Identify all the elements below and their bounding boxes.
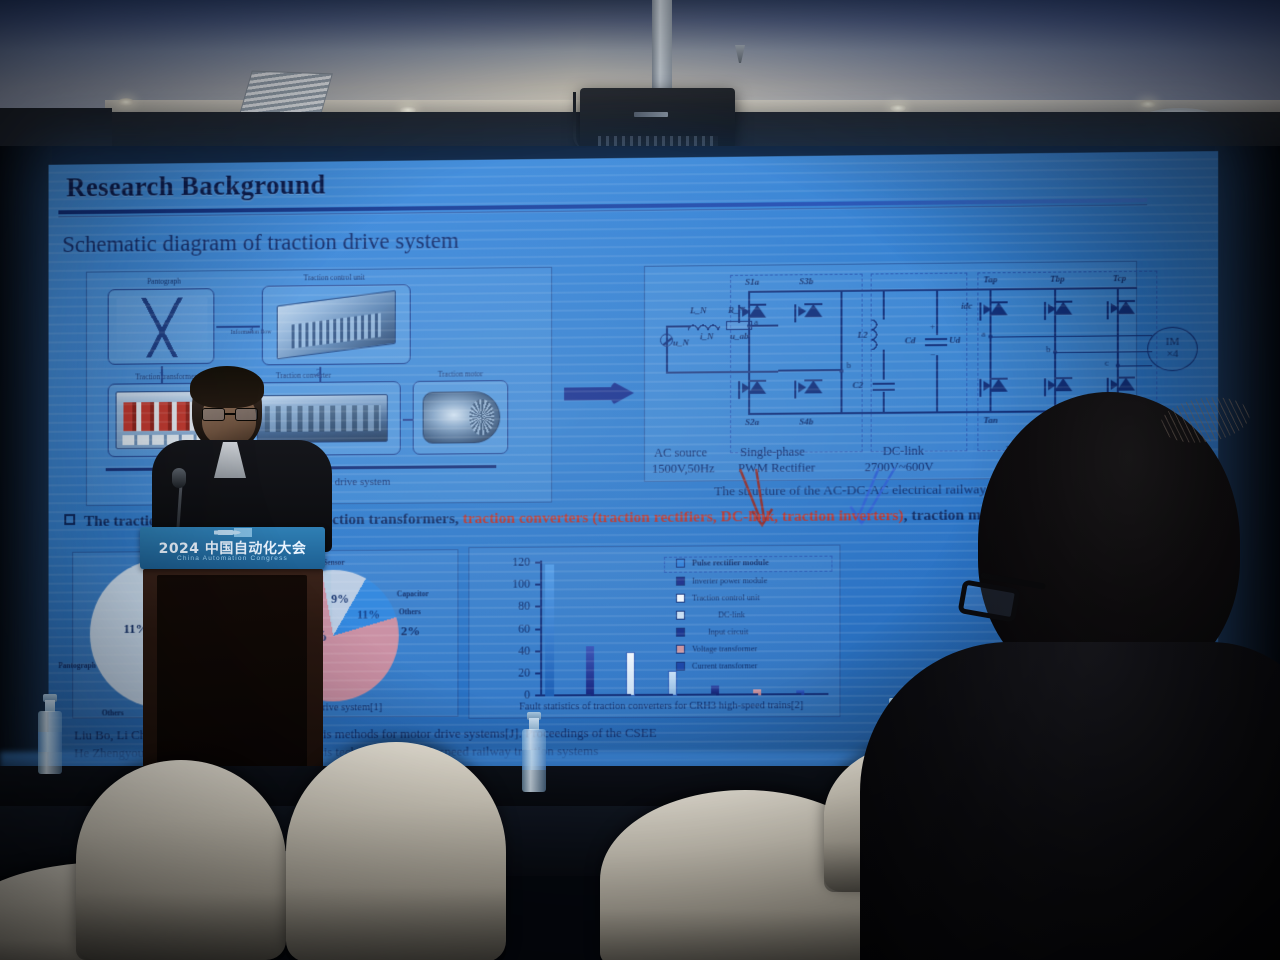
rect-leg-b: [840, 290, 842, 414]
igbt-tcp: [1107, 297, 1137, 323]
legend-item-voltage-transformer: Voltage transformer: [676, 644, 757, 653]
wire: [883, 289, 885, 319]
y-tick-label-120: 120: [500, 555, 530, 570]
phase-wire-c: [1118, 365, 1152, 367]
projector-cable: [573, 92, 587, 150]
wire: [936, 289, 938, 335]
legend-item-current-transformer: Current transformer: [676, 661, 757, 670]
polarity-plus: +: [930, 321, 935, 331]
switch-label-s3b: S3b: [799, 276, 813, 286]
bar-inverter-power-module: [586, 646, 594, 696]
igbt-s3b: [794, 300, 824, 326]
legend-label: Input circuit: [708, 627, 748, 636]
pie-value-9: 9%: [331, 592, 349, 607]
block-label-traction-control-unit: Traction control unit: [270, 272, 399, 282]
transition-arrow-icon: [564, 380, 634, 407]
pie-label-sensor: Sensor: [323, 558, 345, 567]
legend-swatch: [676, 628, 685, 637]
x-tick: [586, 694, 591, 696]
pie-left-label-pantograph: Pantograph: [58, 661, 95, 670]
switch-label-s1a: S1a: [745, 277, 759, 287]
igbt-s1a: [738, 301, 768, 327]
chair: [76, 760, 286, 960]
y-tick: [535, 562, 540, 564]
presentation-photo: Research Background Schematic diagram of…: [0, 0, 1280, 960]
presenter-glasses: [202, 408, 258, 421]
legend-item-traction-control-unit: Traction control unit: [676, 593, 760, 603]
legend-item-inverter-power-module: Inverter power module: [676, 576, 767, 586]
pie-label-others: Others: [399, 607, 421, 616]
legend-label: Inverter power module: [692, 576, 767, 585]
y-tick: [535, 672, 540, 674]
source-voltage-label: u_N: [673, 337, 689, 347]
x-tick: [796, 693, 801, 695]
bar-pulse-rectifier-module: [545, 564, 554, 696]
block-traction-motor: [413, 380, 509, 455]
bullet-highlight: traction converters (traction rectifiers…: [463, 507, 904, 527]
stage-label-ac-source-1: AC source: [654, 445, 707, 460]
legend-swatch: [676, 662, 685, 671]
y-tick-label-40: 40: [500, 644, 530, 659]
igbt-s4b: [794, 376, 824, 402]
block-label-traction-motor: Traction motor: [411, 369, 511, 379]
x-tick: [668, 694, 673, 696]
switch-label-s2a: S2a: [745, 417, 759, 427]
downlight: [1140, 100, 1156, 108]
attendee-shoulders: [860, 642, 1280, 960]
junction-dot: [747, 324, 751, 328]
microphone-icon: [172, 468, 186, 488]
information-flow-label: Information flow: [216, 329, 285, 336]
switch-label-tap: Tap: [983, 274, 997, 284]
wire: [666, 342, 668, 374]
congress-logo-icon: [214, 528, 252, 537]
legend-swatch: [676, 611, 685, 620]
pie-value-11: 11%: [357, 608, 380, 623]
pie-value-2: 2%: [401, 623, 420, 639]
y-tick: [535, 629, 540, 631]
y-tick-label-100: 100: [500, 577, 530, 592]
water-bottle: [38, 700, 62, 774]
energy-flow-line-right: [325, 465, 496, 469]
water-bottle: [522, 718, 546, 792]
switch-label-tcp: Tcp: [1113, 273, 1126, 283]
legend-swatch: [676, 559, 685, 568]
downlight: [890, 104, 906, 112]
bar-traction-control-unit: [626, 652, 635, 696]
legend-item-input-circuit: Input circuit: [676, 627, 748, 636]
legend-label: DC-link: [718, 610, 745, 619]
junction-dot: [988, 335, 992, 339]
dc-inductor-l2: [872, 320, 881, 350]
motor-count-label: ×4: [1167, 349, 1179, 361]
pie-left-label-others: Others: [102, 708, 124, 717]
y-tick-label-60: 60: [500, 622, 530, 637]
y-tick-label-20: 20: [500, 666, 530, 681]
stage-label-rectifier-1: Single-phase: [740, 445, 805, 461]
legend-label: Pulse rectifier module: [692, 558, 769, 568]
x-tick: [711, 694, 716, 696]
legend-label: Voltage transformer: [692, 644, 757, 653]
bar-chart: 120 100 80 60 40 20 0: [468, 545, 840, 719]
attendee-glasses: [960, 574, 1046, 618]
traction-motor-icon: [423, 391, 501, 444]
y-axis: [540, 561, 542, 697]
y-tick-label-0: 0: [500, 687, 530, 702]
wire: [666, 326, 668, 342]
chair: [286, 742, 506, 960]
legend-label: Traction control unit: [692, 593, 760, 602]
junction-dot: [1053, 350, 1057, 354]
foreground-attendee: [860, 392, 1280, 960]
presenter-hair: [190, 366, 264, 408]
wire: [666, 325, 690, 327]
x-tick: [626, 694, 631, 696]
x-axis: [540, 693, 828, 697]
node-label-a: a: [754, 317, 758, 327]
downlight: [118, 98, 134, 106]
y-tick-label-80: 80: [500, 599, 530, 614]
dc-capacitor-cd: [925, 335, 947, 349]
dc-cap-label: Cd: [905, 335, 916, 345]
block-pantograph: [108, 288, 215, 365]
podium-sign: 2024 中国自动化大会 China Automation Congress: [140, 527, 325, 569]
pie-label-capacitor: Capacitor: [397, 589, 429, 598]
dc-cap2-label: C2: [853, 380, 864, 390]
junction-dot: [1116, 364, 1120, 368]
phase-node-b: b: [1046, 344, 1051, 354]
inductor-label: L_N: [690, 305, 707, 315]
bullet-square-icon: [64, 514, 75, 525]
block-traction-control-unit: [262, 284, 411, 365]
phase-node-c: c: [1105, 358, 1109, 368]
switch-label-s4b: S4b: [799, 416, 813, 426]
connector-conv-motor: [403, 419, 413, 421]
presenter: [152, 368, 332, 548]
block-label-pantograph: Pantograph: [120, 276, 209, 286]
slide-subtitle: Schematic diagram of traction drive syst…: [62, 228, 459, 258]
podium-sign-english: China Automation Congress: [140, 555, 325, 562]
induction-motor-symbol: IM ×4: [1147, 327, 1198, 372]
pantograph-icon: [117, 297, 208, 358]
stage-label-ac-source-2: 1500V,50Hz: [652, 461, 715, 476]
legend-swatch: [676, 645, 685, 654]
bar-chart-legend: Pulse rectifier module Inverter power mo…: [664, 557, 834, 668]
y-tick: [535, 606, 540, 608]
switch-label-tbp: Tbp: [1050, 274, 1065, 284]
traction-control-unit-icon: [277, 290, 396, 360]
legend-item-pulse-rectifier-module: Pulse rectifier module: [676, 558, 769, 568]
igbt-tbp: [1044, 298, 1074, 324]
legend-label: Current transformer: [692, 661, 757, 670]
x-tick: [753, 693, 758, 695]
dc-current-label: idc: [961, 301, 972, 311]
node-label-b: b: [847, 360, 852, 370]
wire: [883, 350, 885, 380]
legend-swatch: [676, 594, 685, 603]
dc-inductor-label: L2: [858, 330, 868, 340]
slide-title: Research Background: [66, 170, 325, 204]
y-tick: [535, 694, 540, 696]
bar-dc-link: [668, 671, 677, 696]
igbt-tap: [979, 298, 1009, 324]
phase-node-a: a: [981, 329, 985, 339]
bridge-voltage-label: u_ab: [730, 331, 749, 341]
line-current-label: i_N: [700, 331, 714, 341]
projector-indicator: [634, 112, 668, 117]
polarity-minus: −: [930, 349, 935, 359]
podium-front-panel: [157, 575, 307, 787]
legend-item-dc-link: DC-link: [676, 610, 745, 619]
y-tick: [535, 650, 540, 652]
y-tick: [535, 584, 540, 586]
legend-swatch: [676, 577, 685, 586]
line-inductor-symbol: [688, 321, 720, 330]
bar-chart-caption: Fault statistics of traction converters …: [496, 700, 826, 713]
igbt-s2a: [738, 377, 768, 403]
podium: 2024 中国自动化大会 China Automation Congress: [140, 527, 325, 787]
dc-voltage-label: Ud: [949, 335, 960, 345]
